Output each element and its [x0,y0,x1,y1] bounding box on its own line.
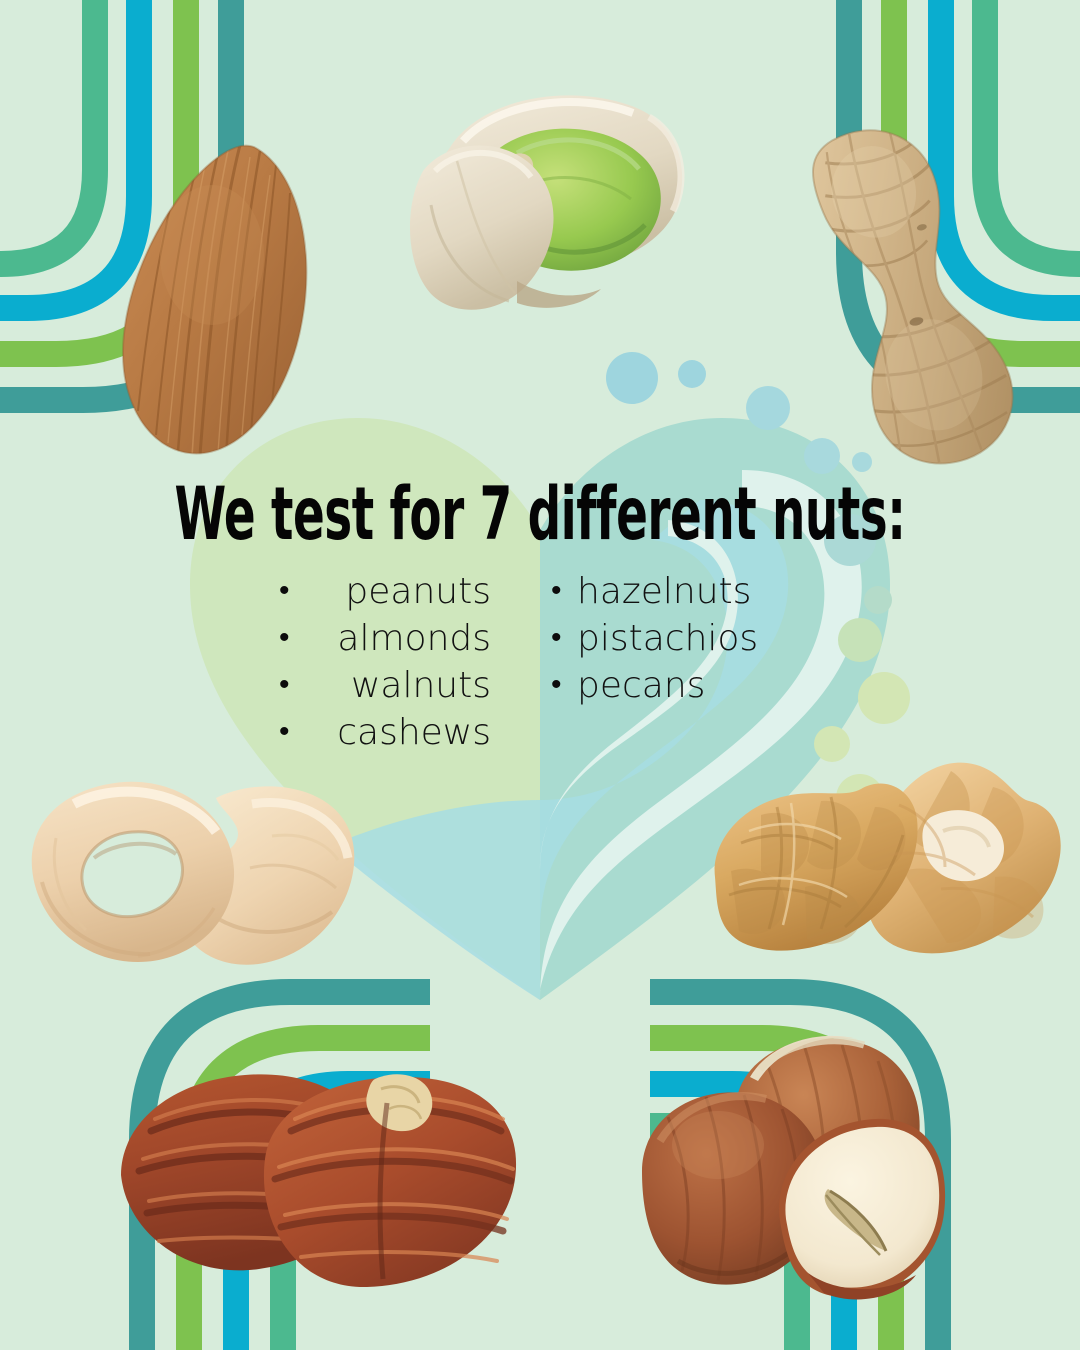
list-item: • pecans [551,663,821,710]
bullet-icon: • [279,717,305,747]
nut-label: pecans [577,663,705,710]
page-title: We test for 7 different nuts: [38,478,1042,552]
nut-label: walnuts [305,663,491,710]
nut-lists: • peanuts • almonds • walnuts • cashews [0,569,1080,756]
photo-pistachio [405,75,695,325]
bullet-icon: • [551,623,577,653]
nut-label: hazelnuts [577,569,751,616]
photo-hazelnut [620,1025,950,1315]
nut-list-right-column: • hazelnuts • pistachios • pecans [551,569,821,709]
photo-walnut [645,745,1065,975]
bullet-icon: • [551,576,577,606]
photo-almond [100,135,350,465]
photo-peanut [790,115,1040,475]
poster-canvas: We test for 7 different nuts: • peanuts … [0,0,1080,1350]
text-block: We test for 7 different nuts: • peanuts … [0,478,1080,756]
nut-list-left-column: • peanuts • almonds • walnuts • cashews [279,569,509,756]
list-item: • pistachios [551,616,821,663]
photo-cashew [20,760,360,980]
nut-label: almonds [305,616,491,663]
list-item: • cashews [279,710,509,757]
list-item: • hazelnuts [551,569,821,616]
photo-pecan [105,1055,525,1305]
list-item: • almonds [279,616,509,663]
nut-label: cashews [305,710,491,757]
bullet-icon: • [279,623,305,653]
list-item: • peanuts [279,569,509,616]
bullet-icon: • [279,576,305,606]
bullet-icon: • [551,670,577,700]
bullet-icon: • [279,670,305,700]
list-item: • walnuts [279,663,509,710]
nut-label: peanuts [305,569,491,616]
nut-label: pistachios [577,616,758,663]
